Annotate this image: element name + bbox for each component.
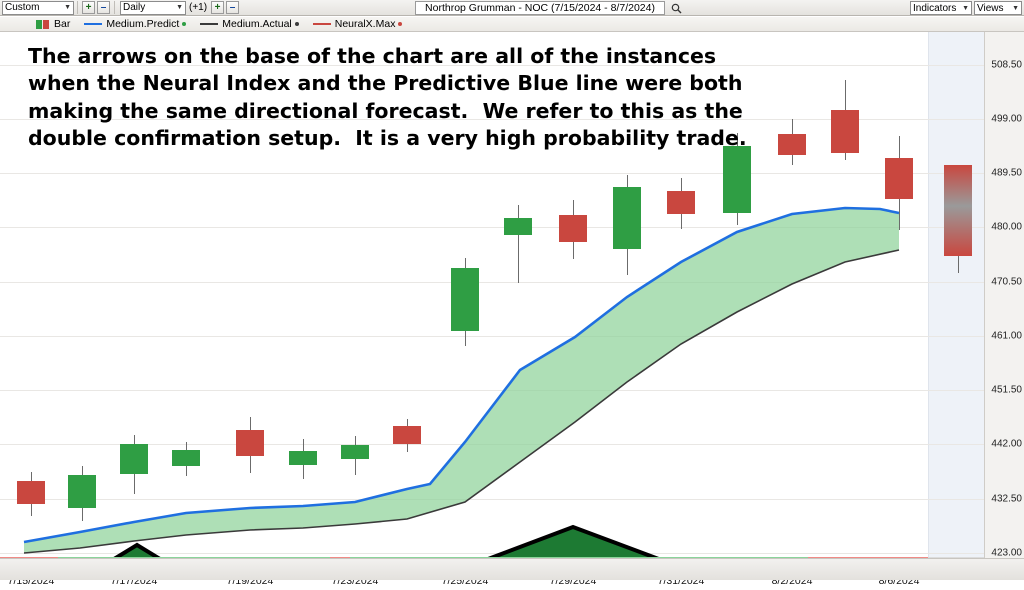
toolbar-divider-2 xyxy=(114,1,115,14)
price-axis-tick: 451.50 xyxy=(991,385,1022,396)
legend-item-bar[interactable]: Bar xyxy=(36,18,70,30)
chart-area[interactable]: 508.50499.00489.50480.00470.50461.00451.… xyxy=(0,32,1024,580)
legend-label-neuralx-max: NeuralX.Max xyxy=(335,18,396,30)
top-toolbar: Custom ▼ + – Daily ▼ (+1) + – Northrop G… xyxy=(0,0,1024,16)
views-select[interactable]: Views ▼ xyxy=(974,1,1022,15)
chevron-down-icon: ▼ xyxy=(59,4,71,11)
price-axis-tick: 499.00 xyxy=(991,113,1022,124)
neuralx-line-swatch-icon xyxy=(313,23,331,25)
neuralx-dot-icon xyxy=(398,22,402,26)
offset-label: (+1) xyxy=(186,2,210,13)
predict-dot-icon xyxy=(182,22,186,26)
custom-range-select[interactable]: Custom ▼ xyxy=(2,1,74,15)
chevron-down-icon-2: ▼ xyxy=(171,4,183,11)
bottom-scroll-bar[interactable] xyxy=(0,558,1024,580)
price-axis: 508.50499.00489.50480.00470.50461.00451.… xyxy=(984,32,1024,557)
annotation-text: The arrows on the base of the chart are … xyxy=(28,43,748,152)
toolbar-right-group: Indicators ▼ Views ▼ xyxy=(910,1,1022,15)
price-axis-tick: 480.00 xyxy=(991,222,1022,233)
double-confirmation-arrow-2 xyxy=(348,527,800,557)
chart-legend: Bar Medium.Predict Medium.Actual NeuralX… xyxy=(0,17,1024,32)
offset-decrease-icon[interactable]: – xyxy=(226,1,239,14)
price-axis-tick: 508.50 xyxy=(991,59,1022,70)
chevron-down-icon-3: ▼ xyxy=(957,5,969,12)
toolbar-divider xyxy=(77,1,78,14)
actual-dot-icon xyxy=(295,22,299,26)
legend-item-medium-predict[interactable]: Medium.Predict xyxy=(84,18,186,30)
offset-increase-icon[interactable]: + xyxy=(211,1,224,14)
legend-label-medium-predict: Medium.Predict xyxy=(106,18,179,30)
price-axis-tick: 461.00 xyxy=(991,330,1022,341)
predict-line-swatch-icon xyxy=(84,23,102,25)
price-axis-tick: 470.50 xyxy=(991,276,1022,287)
legend-item-neuralx-max[interactable]: NeuralX.Max xyxy=(313,18,403,30)
views-label: Views xyxy=(977,3,1004,14)
indicators-select[interactable]: Indicators ▼ xyxy=(910,1,972,15)
legend-item-medium-actual[interactable]: Medium.Actual xyxy=(200,18,298,30)
price-axis-tick: 489.50 xyxy=(991,168,1022,179)
interval-label: Daily xyxy=(123,2,145,13)
search-icon[interactable] xyxy=(670,2,682,14)
chevron-down-icon-4: ▼ xyxy=(1007,5,1019,12)
interval-select[interactable]: Daily ▼ xyxy=(120,1,186,15)
price-axis-tick: 442.00 xyxy=(991,439,1022,450)
double-confirmation-arrow-1 xyxy=(62,545,212,557)
chart-title: Northrop Grumman - NOC (7/15/2024 - 8/7/… xyxy=(415,1,665,15)
price-axis-tick: 432.50 xyxy=(991,493,1022,504)
bar-swatch-icon xyxy=(36,20,50,29)
legend-label-bar: Bar xyxy=(54,18,70,30)
actual-line-swatch-icon xyxy=(200,23,218,25)
legend-label-medium-actual: Medium.Actual xyxy=(222,18,291,30)
custom-range-label: Custom xyxy=(5,2,39,13)
minus-icon[interactable]: – xyxy=(97,1,110,14)
add-icon[interactable]: + xyxy=(82,1,95,14)
indicators-label: Indicators xyxy=(913,3,956,14)
